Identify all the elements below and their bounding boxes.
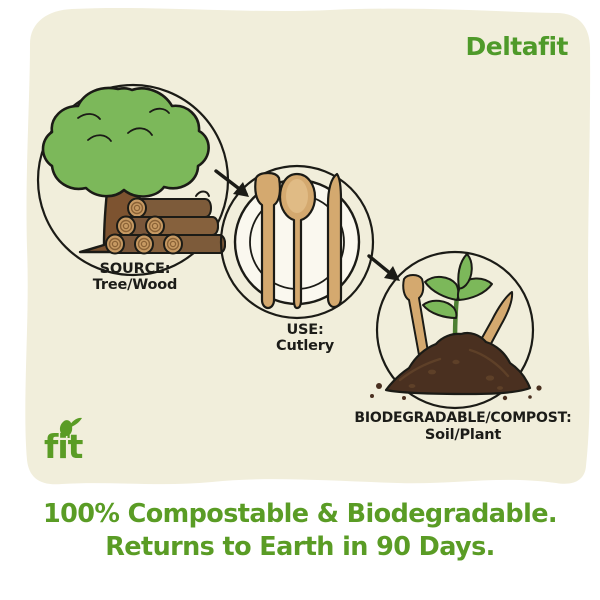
- arrow-use-to-compost-icon: [369, 256, 400, 281]
- caption-compost: BIODEGRADABLE/COMPOST: Soil/Plant: [338, 411, 588, 443]
- caption-use-title: USE:: [215, 322, 395, 338]
- fit-secondary-logo: fit: [38, 408, 108, 468]
- caption-source-title: SOURCE:: [35, 261, 235, 277]
- infographic-canvas: Deltafit fit: [0, 0, 600, 600]
- headline-line-2: Returns to Earth in 90 Days.: [0, 531, 600, 564]
- caption-compost-subtitle: Soil/Plant: [338, 427, 588, 443]
- step-use-illustration: [221, 166, 373, 318]
- brand-logo: Deltafit: [466, 34, 569, 59]
- arrow-source-to-use-icon: [216, 171, 249, 197]
- buried-fork-icon: [403, 275, 428, 359]
- wooden-knife-icon: [328, 174, 341, 307]
- caption-source: SOURCE: Tree/Wood: [35, 261, 235, 293]
- step-source-illustration: [38, 85, 228, 275]
- fit-logo-text: fit: [44, 430, 82, 463]
- headline: 100% Compostable & Biodegradable. Return…: [0, 498, 600, 564]
- soil-mound-icon: [370, 333, 542, 400]
- sprout-icon: [423, 254, 492, 342]
- caption-compost-title: BIODEGRADABLE/COMPOST:: [338, 411, 588, 427]
- headline-line-1: 100% Compostable & Biodegradable.: [0, 498, 600, 531]
- caption-source-subtitle: Tree/Wood: [35, 277, 235, 293]
- caption-use-subtitle: Cutlery: [215, 338, 395, 354]
- caption-use: USE: Cutlery: [215, 322, 395, 354]
